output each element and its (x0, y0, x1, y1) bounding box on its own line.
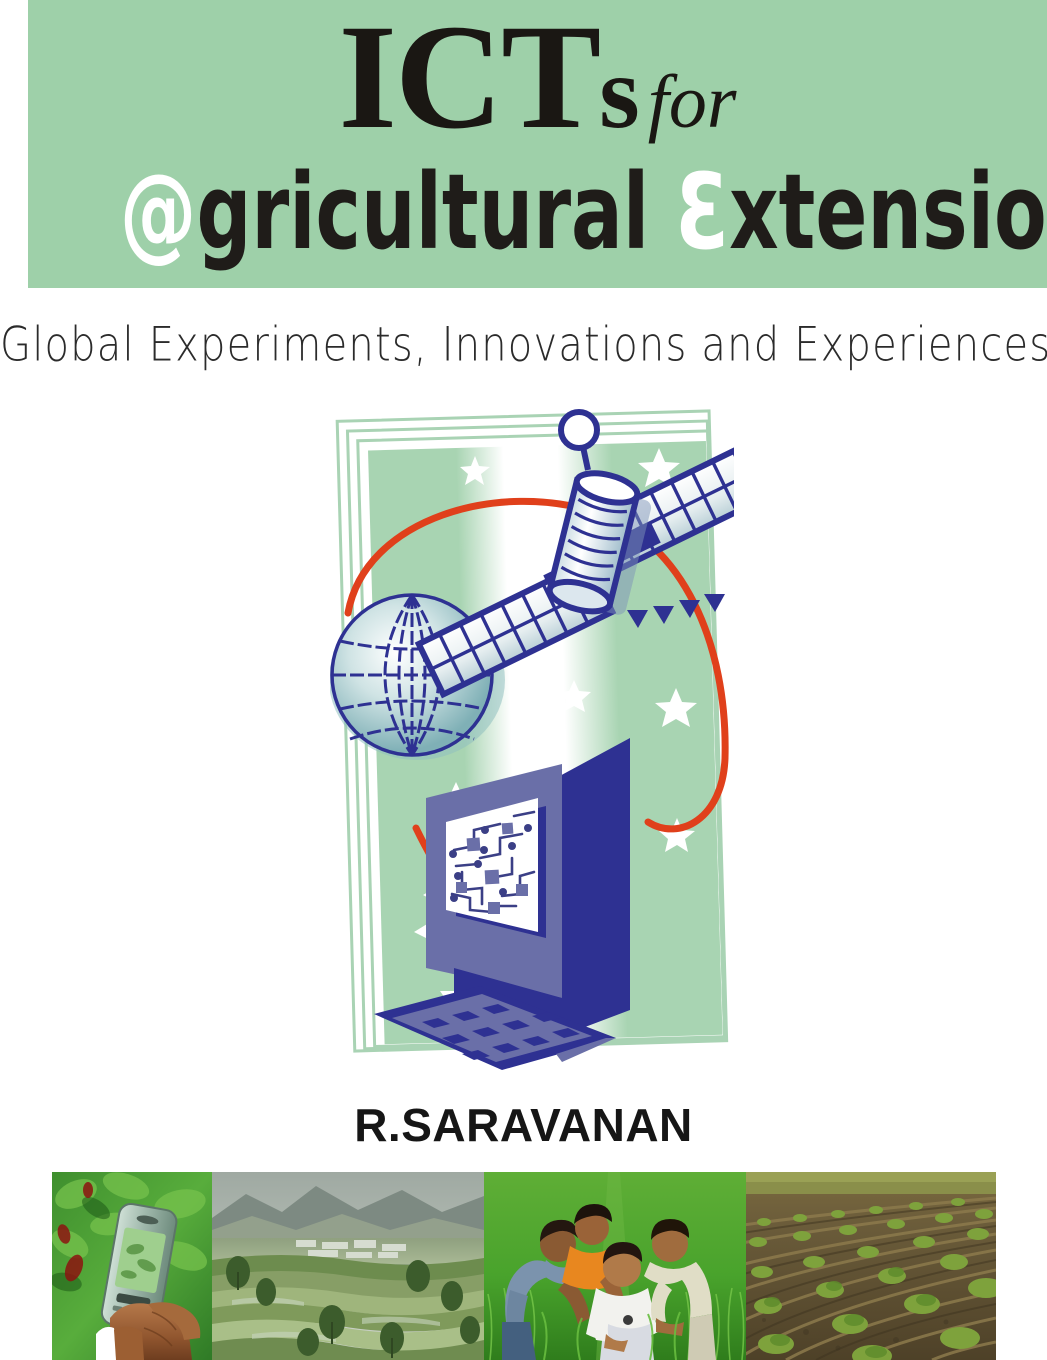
title-for-word: for (638, 60, 737, 144)
at-symbol-glyph: @ (120, 151, 197, 273)
title-band: ICTsfor @gricultural Ɛxtension (28, 0, 1047, 288)
title-stem: ICT (339, 0, 600, 160)
photo-farmers (484, 1172, 746, 1360)
title-line-secondary: @gricultural Ɛxtension (120, 160, 956, 264)
photo-strip (52, 1172, 996, 1360)
photo-mobile (52, 1172, 212, 1360)
photo-rows (746, 1172, 996, 1360)
title-line-primary: ICTsfor (28, 2, 1047, 152)
title-xtension: xtension (729, 151, 1047, 273)
subtitle: Global Experiments, Innovations and Expe… (0, 318, 1047, 372)
title-main-text: ICTs (339, 0, 638, 160)
cover-illustration (330, 398, 734, 1070)
title-gricultural: gricultural (196, 151, 675, 273)
photo-terrace (212, 1172, 484, 1360)
author-name: R.SARAVANAN (0, 1098, 1047, 1152)
title-small-s: s (599, 35, 637, 150)
epsilon-glyph: Ɛ (676, 151, 729, 273)
